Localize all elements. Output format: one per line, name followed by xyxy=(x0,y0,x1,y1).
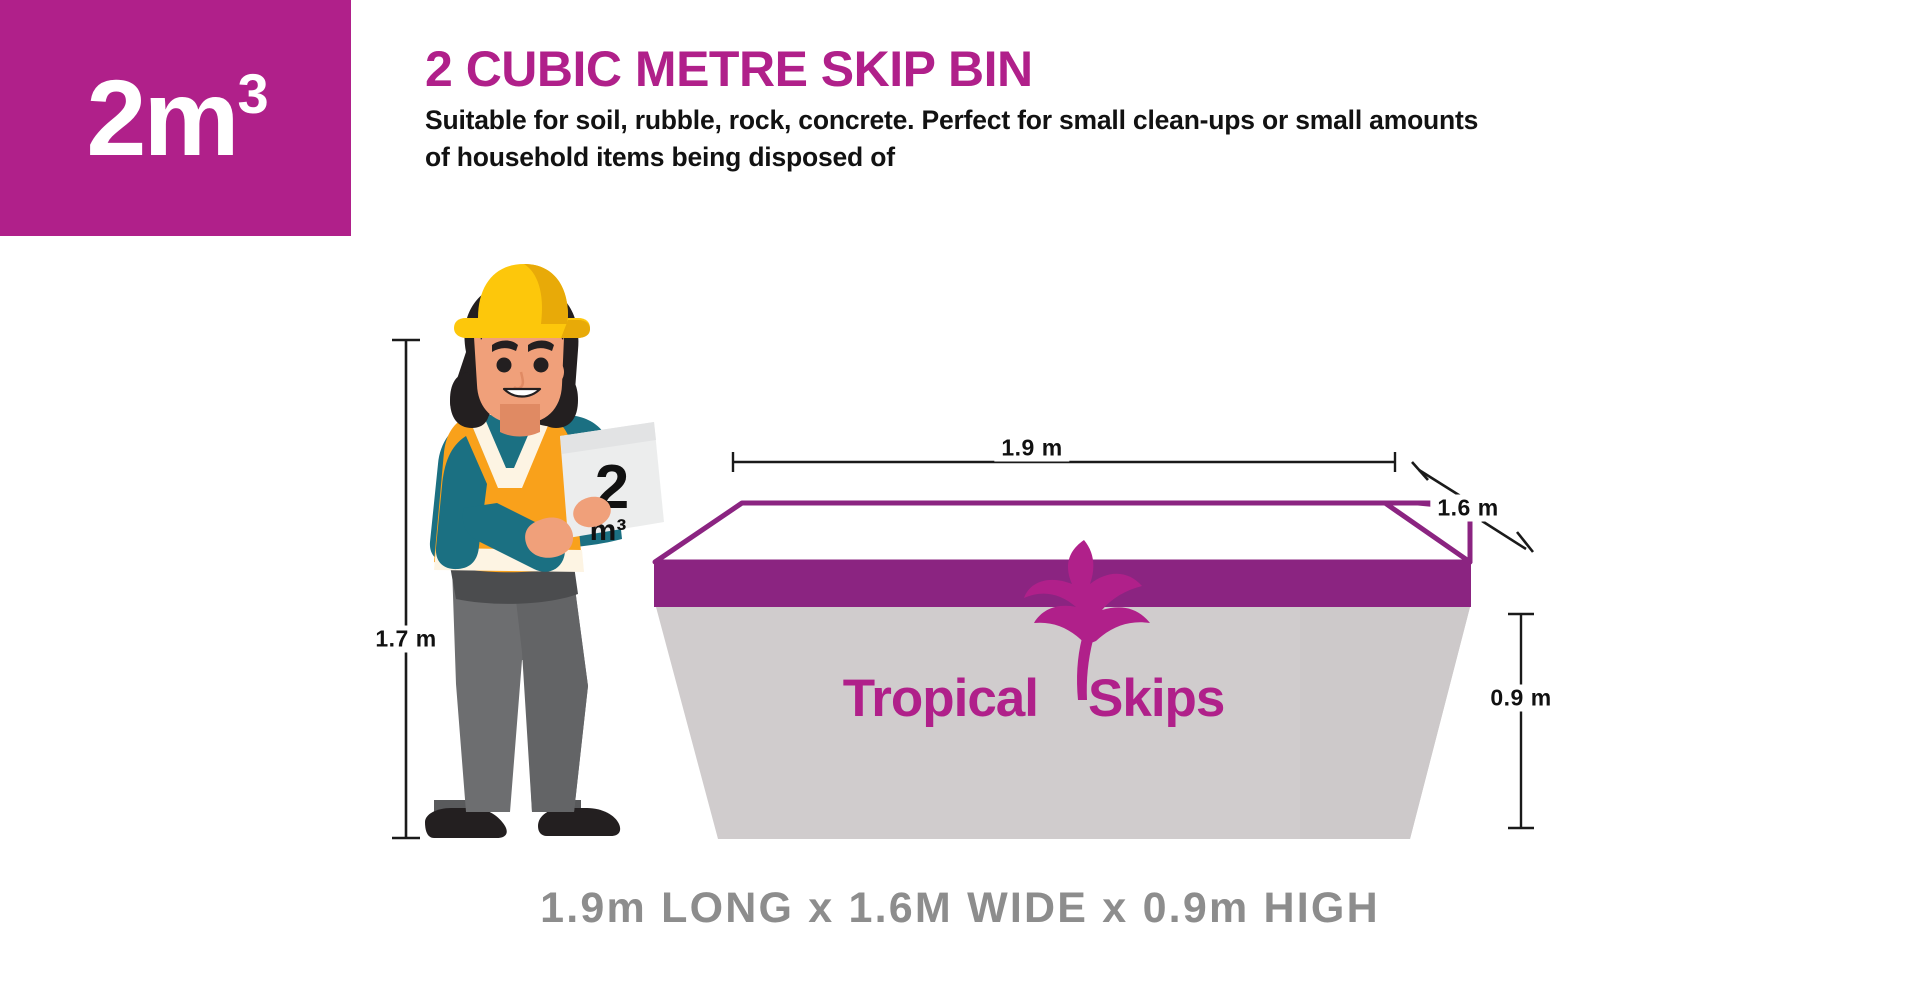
worker-hands xyxy=(525,493,614,558)
skip-bin xyxy=(654,503,1471,839)
volume-badge-exponent: 3 xyxy=(237,66,265,122)
skip-bin-top-opening xyxy=(655,503,1470,562)
worker-eye xyxy=(534,358,549,373)
worker-eyebrow xyxy=(528,341,554,353)
dimension-label-width: 1.6 m xyxy=(1430,495,1505,522)
volume-badge: 2m3 xyxy=(0,0,351,236)
dimension-label-length: 1.9 m xyxy=(994,435,1069,462)
worker-trousers xyxy=(450,566,588,812)
dimension-label-person-height: 1.7 m xyxy=(368,626,443,653)
worker-boots xyxy=(425,800,620,838)
dimension-line-person-height xyxy=(392,340,420,838)
worker-nose xyxy=(514,372,523,389)
brand-name-part1: Tropical xyxy=(843,669,1038,728)
worker-shirt xyxy=(430,415,622,562)
worker-sign-unit: m³ xyxy=(590,514,627,547)
worker-sign: 2 m³ xyxy=(560,422,664,547)
page-title: 2 CUBIC METRE SKIP BIN xyxy=(425,42,1525,96)
worker-fringe xyxy=(479,294,565,340)
worker-ear xyxy=(481,361,497,383)
skip-bin-body xyxy=(656,607,1470,839)
worker-sign-value: 2 xyxy=(595,453,629,522)
skip-bin-rim xyxy=(654,560,1471,607)
brand-name-part2: Skips xyxy=(1088,669,1224,728)
dimension-label-height: 0.9 m xyxy=(1483,685,1558,712)
worker-mouth xyxy=(504,389,540,397)
brand-logo: Tropical Skips xyxy=(843,540,1225,728)
worker-neck xyxy=(500,404,540,437)
palm-tree-icon xyxy=(1024,540,1150,700)
skip-bin-body-shade xyxy=(1300,607,1470,839)
volume-badge-text: 2m3 xyxy=(86,64,264,172)
worker-illustration: 2 m³ xyxy=(425,264,664,838)
page-subtitle: Suitable for soil, rubble, rock, concret… xyxy=(425,102,1485,175)
header-block: 2 CUBIC METRE SKIP BIN Suitable for soil… xyxy=(425,42,1525,175)
dimensions-caption: 1.9m LONG x 1.6M WIDE x 0.9m HIGH xyxy=(0,884,1920,933)
worker-hard-hat xyxy=(454,264,590,338)
dimension-line-height xyxy=(1508,614,1534,828)
worker-hivis-vest xyxy=(434,412,584,572)
volume-badge-value: 2m xyxy=(86,64,236,172)
worker-face xyxy=(474,320,564,424)
worker-eyebrow xyxy=(492,341,518,353)
worker-ear xyxy=(548,361,564,383)
worker-forearm xyxy=(463,503,565,572)
worker-eye xyxy=(497,358,512,373)
worker-arm-left xyxy=(436,436,487,569)
worker-hair xyxy=(450,282,578,428)
